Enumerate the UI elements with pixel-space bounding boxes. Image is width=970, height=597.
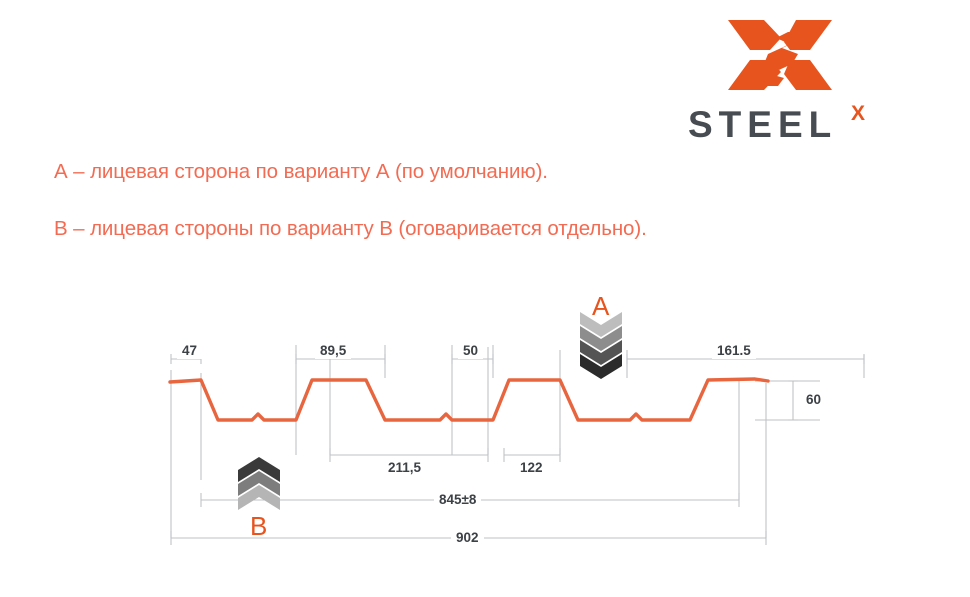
steelx-superscript: X bbox=[851, 102, 865, 126]
dim-label-845: 845±8 bbox=[434, 492, 481, 508]
chevron-up-marker bbox=[236, 455, 282, 513]
dim-label-89-5: 89,5 bbox=[315, 343, 351, 359]
dim-label-122: 122 bbox=[515, 460, 548, 476]
legend-line-a: А – лицевая сторона по варианту А (по ум… bbox=[54, 160, 548, 184]
dim-label-47: 47 bbox=[177, 343, 202, 359]
technical-drawing: 47 89,5 50 161.5 211,5 122 60 845±8 902 … bbox=[0, 255, 970, 575]
steelx-logo: STEEL X bbox=[688, 14, 878, 144]
dim-label-211-5: 211,5 bbox=[383, 460, 426, 476]
dim-label-161-5: 161.5 bbox=[712, 343, 756, 359]
dim-label-902: 902 bbox=[451, 530, 484, 546]
profile-svg bbox=[0, 255, 970, 575]
screenshot-root: STEEL X А – лицевая сторона по варианту … bbox=[0, 0, 970, 597]
dim-label-60: 60 bbox=[801, 392, 826, 408]
profile-polyline bbox=[170, 379, 768, 420]
top-dimension-lines bbox=[171, 354, 864, 364]
marker-letter-b: B bbox=[250, 513, 267, 539]
dim-label-50: 50 bbox=[458, 343, 483, 359]
marker-letter-a: A bbox=[592, 293, 609, 319]
legend-line-b: В – лицевая стороны по варианту В (огова… bbox=[54, 217, 647, 241]
steelx-x-mark bbox=[726, 14, 836, 96]
steelx-wordmark: STEEL bbox=[688, 104, 878, 146]
